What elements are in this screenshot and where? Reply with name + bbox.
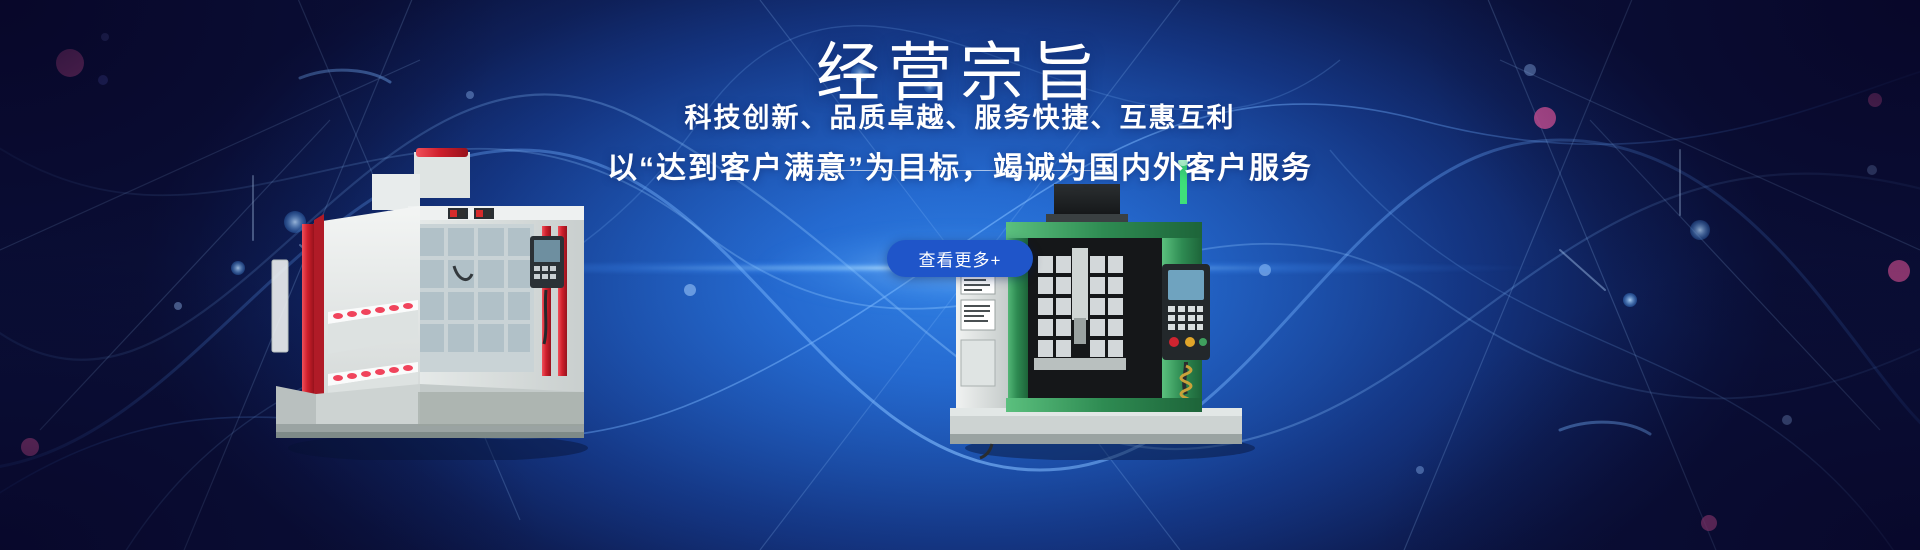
- banner-subtitle: 科技创新、品质卓越、服务快捷、互惠互利: [0, 96, 1920, 135]
- view-more-button[interactable]: 查看更多+: [887, 240, 1033, 277]
- banner-tagline: 以“达到客户满意”为目标，竭诚为国内外客户服务: [0, 143, 1920, 187]
- banner-content: 经营宗旨 科技创新、品质卓越、服务快捷、互惠互利 以“达到客户满意”为目标，竭诚…: [0, 0, 1920, 550]
- hero-banner: 经营宗旨 科技创新、品质卓越、服务快捷、互惠互利 以“达到客户满意”为目标，竭诚…: [0, 0, 1920, 550]
